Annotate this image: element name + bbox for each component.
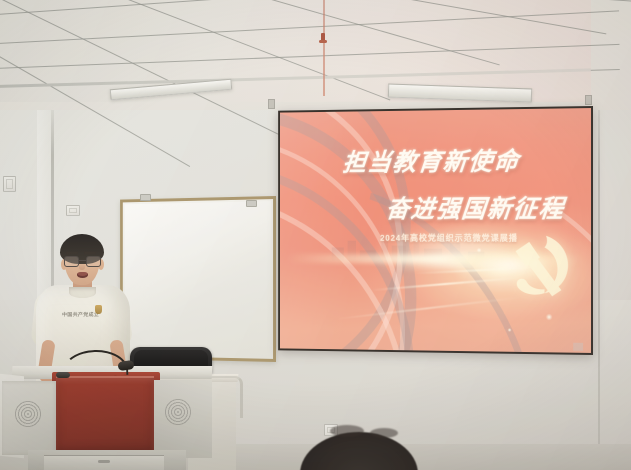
sprinkler-pipe (323, 0, 325, 96)
whiteboard-mount-clip (140, 194, 151, 201)
slide-title-line-1: 担当教育新使命 (342, 142, 522, 179)
eyeglass-lens-left (64, 256, 79, 267)
presenter-collar (69, 287, 96, 298)
whiteboard-mount-clip (246, 200, 257, 207)
whiteboard-surface (125, 201, 271, 357)
photo-scene: 担当教育新使命 奋进强国新征程 2024年高校党组织示范微党课展播 中国共产党成… (0, 0, 631, 470)
eyeglass-lens-right (86, 256, 101, 267)
presenter-shirt-logo (95, 305, 102, 314)
wall-seam-right (598, 70, 600, 470)
fire-sprinkler-head (319, 33, 327, 44)
suspended-tile-ceiling (0, 0, 631, 110)
slide-spark (476, 247, 481, 252)
podium-speaker-grille-right (164, 398, 192, 426)
wall-switch-plate[interactable] (3, 176, 16, 192)
podium-drawer-handle[interactable] (98, 460, 110, 463)
projection-screen: 担当教育新使命 奋进强国新征程 2024年高校党组织示范微党课展播 (278, 106, 593, 355)
slide-background: 担当教育新使命 奋进强国新征程 2024年高校党组织示范微党课展播 (280, 108, 591, 353)
screen-corner-tab (573, 343, 583, 351)
slide-light-ray (335, 296, 520, 319)
presenter-shirt-text: 中国共产党成立 (62, 311, 99, 317)
slide-subtitle: 2024年高校党组织示范微党课展播 (380, 232, 518, 244)
eyeglass-bridge (78, 260, 86, 261)
wall-outlet-plate[interactable] (66, 205, 80, 216)
presenter-mouth (77, 272, 88, 278)
podium-speaker-grille-left (14, 400, 42, 428)
slide-spark (508, 328, 512, 332)
screen-mount-bracket (585, 95, 592, 105)
podium-front-panel (56, 378, 154, 454)
slide-spark (546, 313, 553, 320)
presenter-nose (79, 263, 85, 270)
screen-mount-bracket (268, 99, 275, 109)
projection-screen-frame: 担当教育新使命 奋进强国新征程 2024年高校党组织示范微党课展播 (278, 106, 593, 355)
whiteboard (120, 196, 276, 362)
audience-hair-wisp (370, 428, 398, 438)
slide-title-line-2: 奋进强国新征程 (384, 189, 566, 225)
audience-hair-wisp (330, 425, 364, 437)
